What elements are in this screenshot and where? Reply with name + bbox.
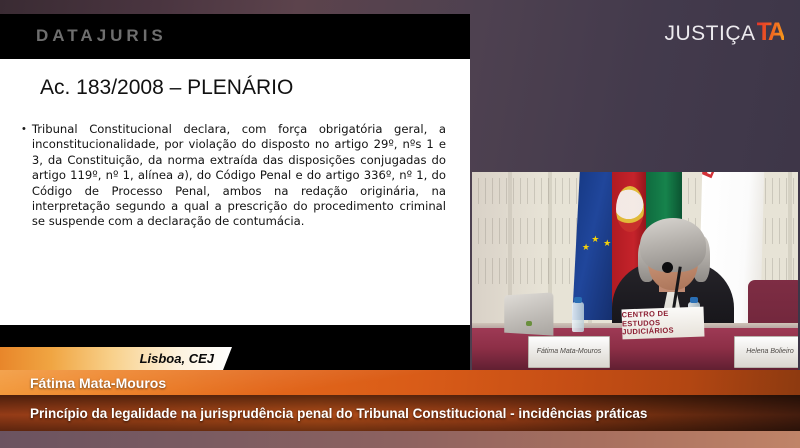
justica-tv-logo: JUSTIÇA TA xyxy=(665,18,785,47)
laptop xyxy=(498,294,554,336)
cej-table-sign-text: CENTRO DE ESTUDOS JUDICIÁRIOS xyxy=(622,309,705,337)
laptop-lid xyxy=(504,292,553,335)
microphone-icon xyxy=(662,262,673,273)
laptop-indicator-icon xyxy=(526,321,532,326)
bottom-accent-strip xyxy=(0,431,800,448)
slide-source-bar: DATAJURIS xyxy=(0,14,470,59)
bullet-marker-icon: • xyxy=(22,122,26,230)
bottle-cap-icon xyxy=(574,297,582,303)
bottle-cap-icon xyxy=(690,297,698,303)
slide-bullet-text: Tribunal Constitucional declara, com for… xyxy=(32,122,446,230)
presentation-slide: Ac. 183/2008 – PLENÁRIO • Tribunal Const… xyxy=(0,59,470,325)
broadcast-player-frame: DATAJURIS JUSTIÇA TA Ac. 183/2008 – PLEN… xyxy=(0,0,800,448)
lower-third-speaker-name: Fátima Mata-Mouros xyxy=(0,375,166,391)
lower-third-speaker-banner: Fátima Mata-Mouros xyxy=(0,370,800,395)
logo-word-justica: JUSTIÇA xyxy=(665,22,756,46)
location-tab: Lisboa, CEJ xyxy=(0,347,232,370)
logo-word-tv: TA xyxy=(757,18,784,47)
nameplate-right: Helena Bolieiro xyxy=(734,336,798,368)
speaker-video-feed[interactable]: ★ ★ ★ ESTUDOS JUDICIÁRIO xyxy=(472,172,798,372)
cej-table-sign: CENTRO DE ESTUDOS JUDICIÁRIOS xyxy=(622,307,705,340)
nameplate-left: Fátima Mata-Mouros xyxy=(528,336,610,368)
lower-third-session-title: Princípio da legalidade na jurisprudênci… xyxy=(30,406,647,421)
lower-third-title-banner: Princípio da legalidade na jurisprudênci… xyxy=(0,395,800,431)
speaker-hair xyxy=(640,218,706,272)
location-label: Lisboa, CEJ xyxy=(140,351,232,366)
slide-title: Ac. 183/2008 – PLENÁRIO xyxy=(40,76,293,100)
cej-banner-text: ESTUDOS JUDICIÁRIO xyxy=(698,172,751,181)
water-bottle-left xyxy=(572,302,584,332)
nameplate-right-text: Helena Bolieiro xyxy=(746,348,793,356)
nameplate-left-text: Fátima Mata-Mouros xyxy=(537,348,602,356)
slide-source-label: DATAJURIS xyxy=(36,26,167,46)
slide-bullet-item: • Tribunal Constitucional declara, com f… xyxy=(22,122,446,230)
